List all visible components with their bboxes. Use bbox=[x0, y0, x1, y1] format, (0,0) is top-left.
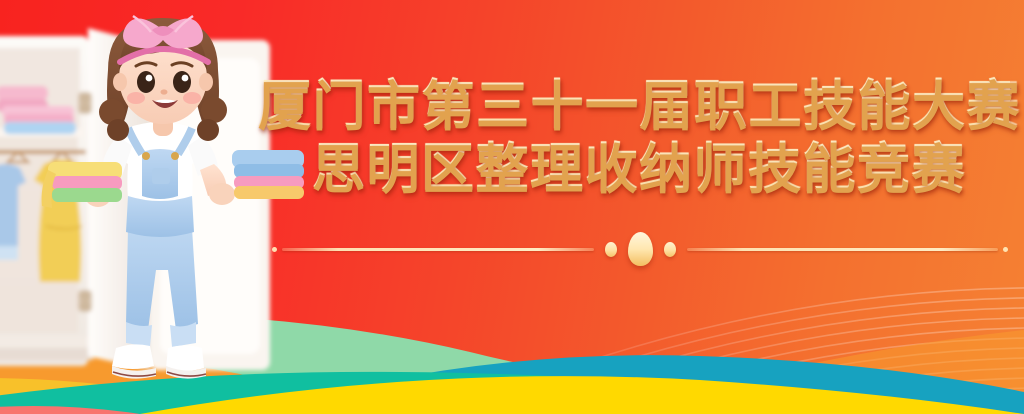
right-hand bbox=[209, 183, 235, 205]
ornamental-divider bbox=[272, 236, 1008, 262]
divider-right-line bbox=[687, 248, 999, 251]
divider-ornament-small-right bbox=[664, 242, 676, 257]
divider-right-dot bbox=[1003, 247, 1008, 252]
divider-ornament-small-left bbox=[605, 242, 617, 257]
title-line-2: 思明区整理收纳师技能竞赛 bbox=[312, 137, 1010, 200]
divider-left-line bbox=[282, 248, 594, 251]
divider-ornament-large bbox=[628, 232, 653, 266]
event-banner: 厦门市第三十一届职工技能大赛 思明区整理收纳师技能竞赛 bbox=[0, 0, 1024, 414]
illustration-girl-organizing bbox=[0, 0, 330, 414]
divider-left-dot bbox=[272, 247, 277, 252]
title-line-1: 厦门市第三十一届职工技能大赛 bbox=[258, 74, 1010, 137]
title-block: 厦门市第三十一届职工技能大赛 思明区整理收纳师技能竞赛 bbox=[250, 74, 1010, 200]
